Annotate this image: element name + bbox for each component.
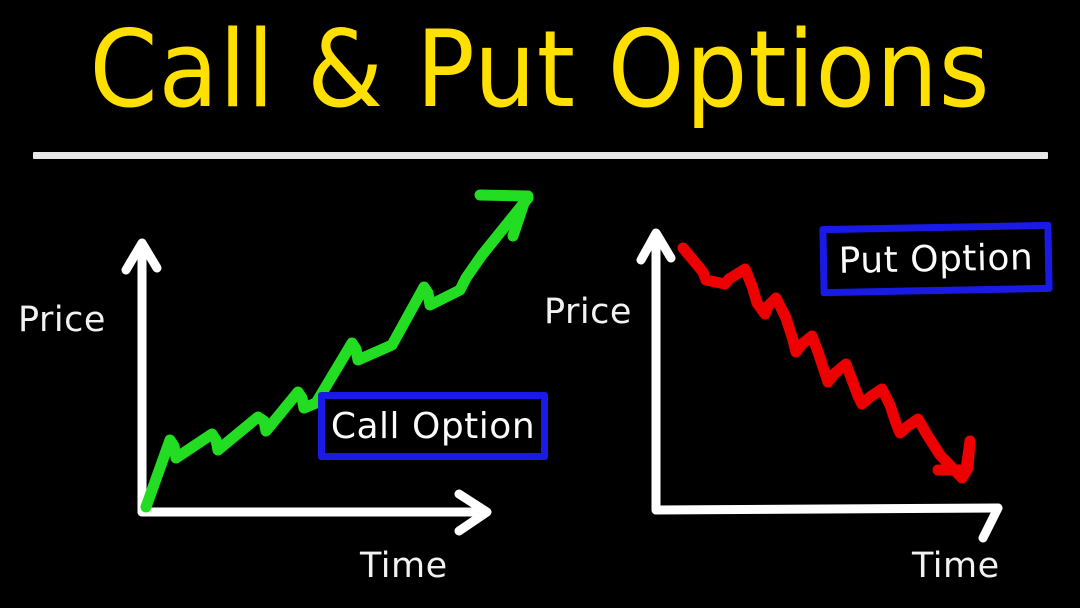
put-x-axis-line [656, 508, 998, 510]
put-x-axis-label: Time [912, 546, 1000, 586]
put-y-axis-label: Price [544, 292, 632, 332]
slide-canvas: Call & Put Options Price Time Call Optio… [0, 0, 1080, 608]
put-option-chart [0, 0, 1080, 608]
put-option-callout[interactable]: Put Option [819, 222, 1052, 296]
put-option-callout-label: Put Option [838, 237, 1033, 282]
